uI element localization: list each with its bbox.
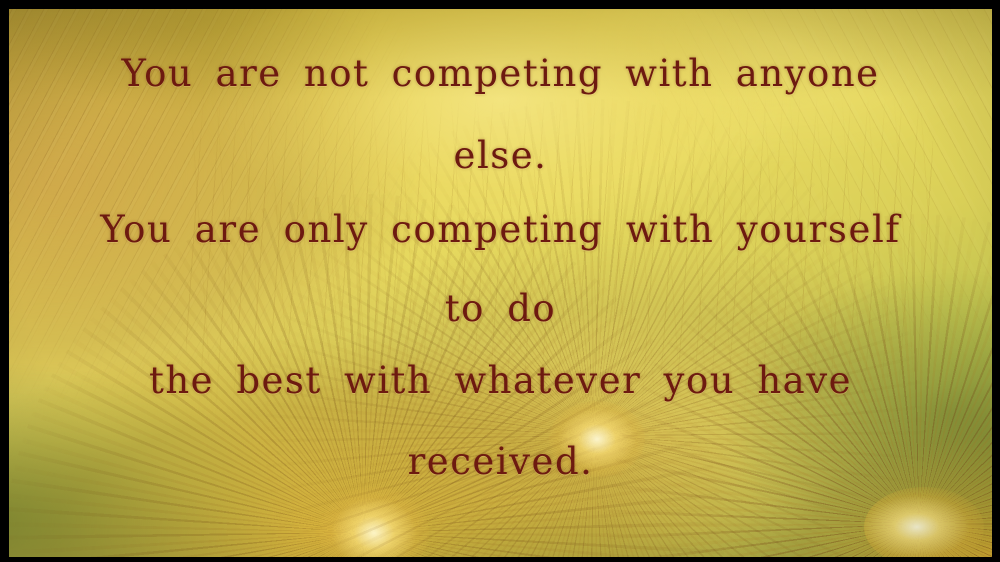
quote-text-block: You are not competing with anyone else. … <box>9 9 992 557</box>
quote-line-4: to do <box>9 290 992 327</box>
quote-line-1: You are not competing with anyone <box>9 55 992 92</box>
quote-line-3: You are only competing with yourself <box>9 211 992 248</box>
quote-poster: You are not competing with anyone else. … <box>0 0 1000 562</box>
quote-line-2: else. <box>9 137 992 174</box>
quote-line-6: received. <box>9 443 992 480</box>
quote-line-5: the best with whatever you have <box>9 362 992 399</box>
